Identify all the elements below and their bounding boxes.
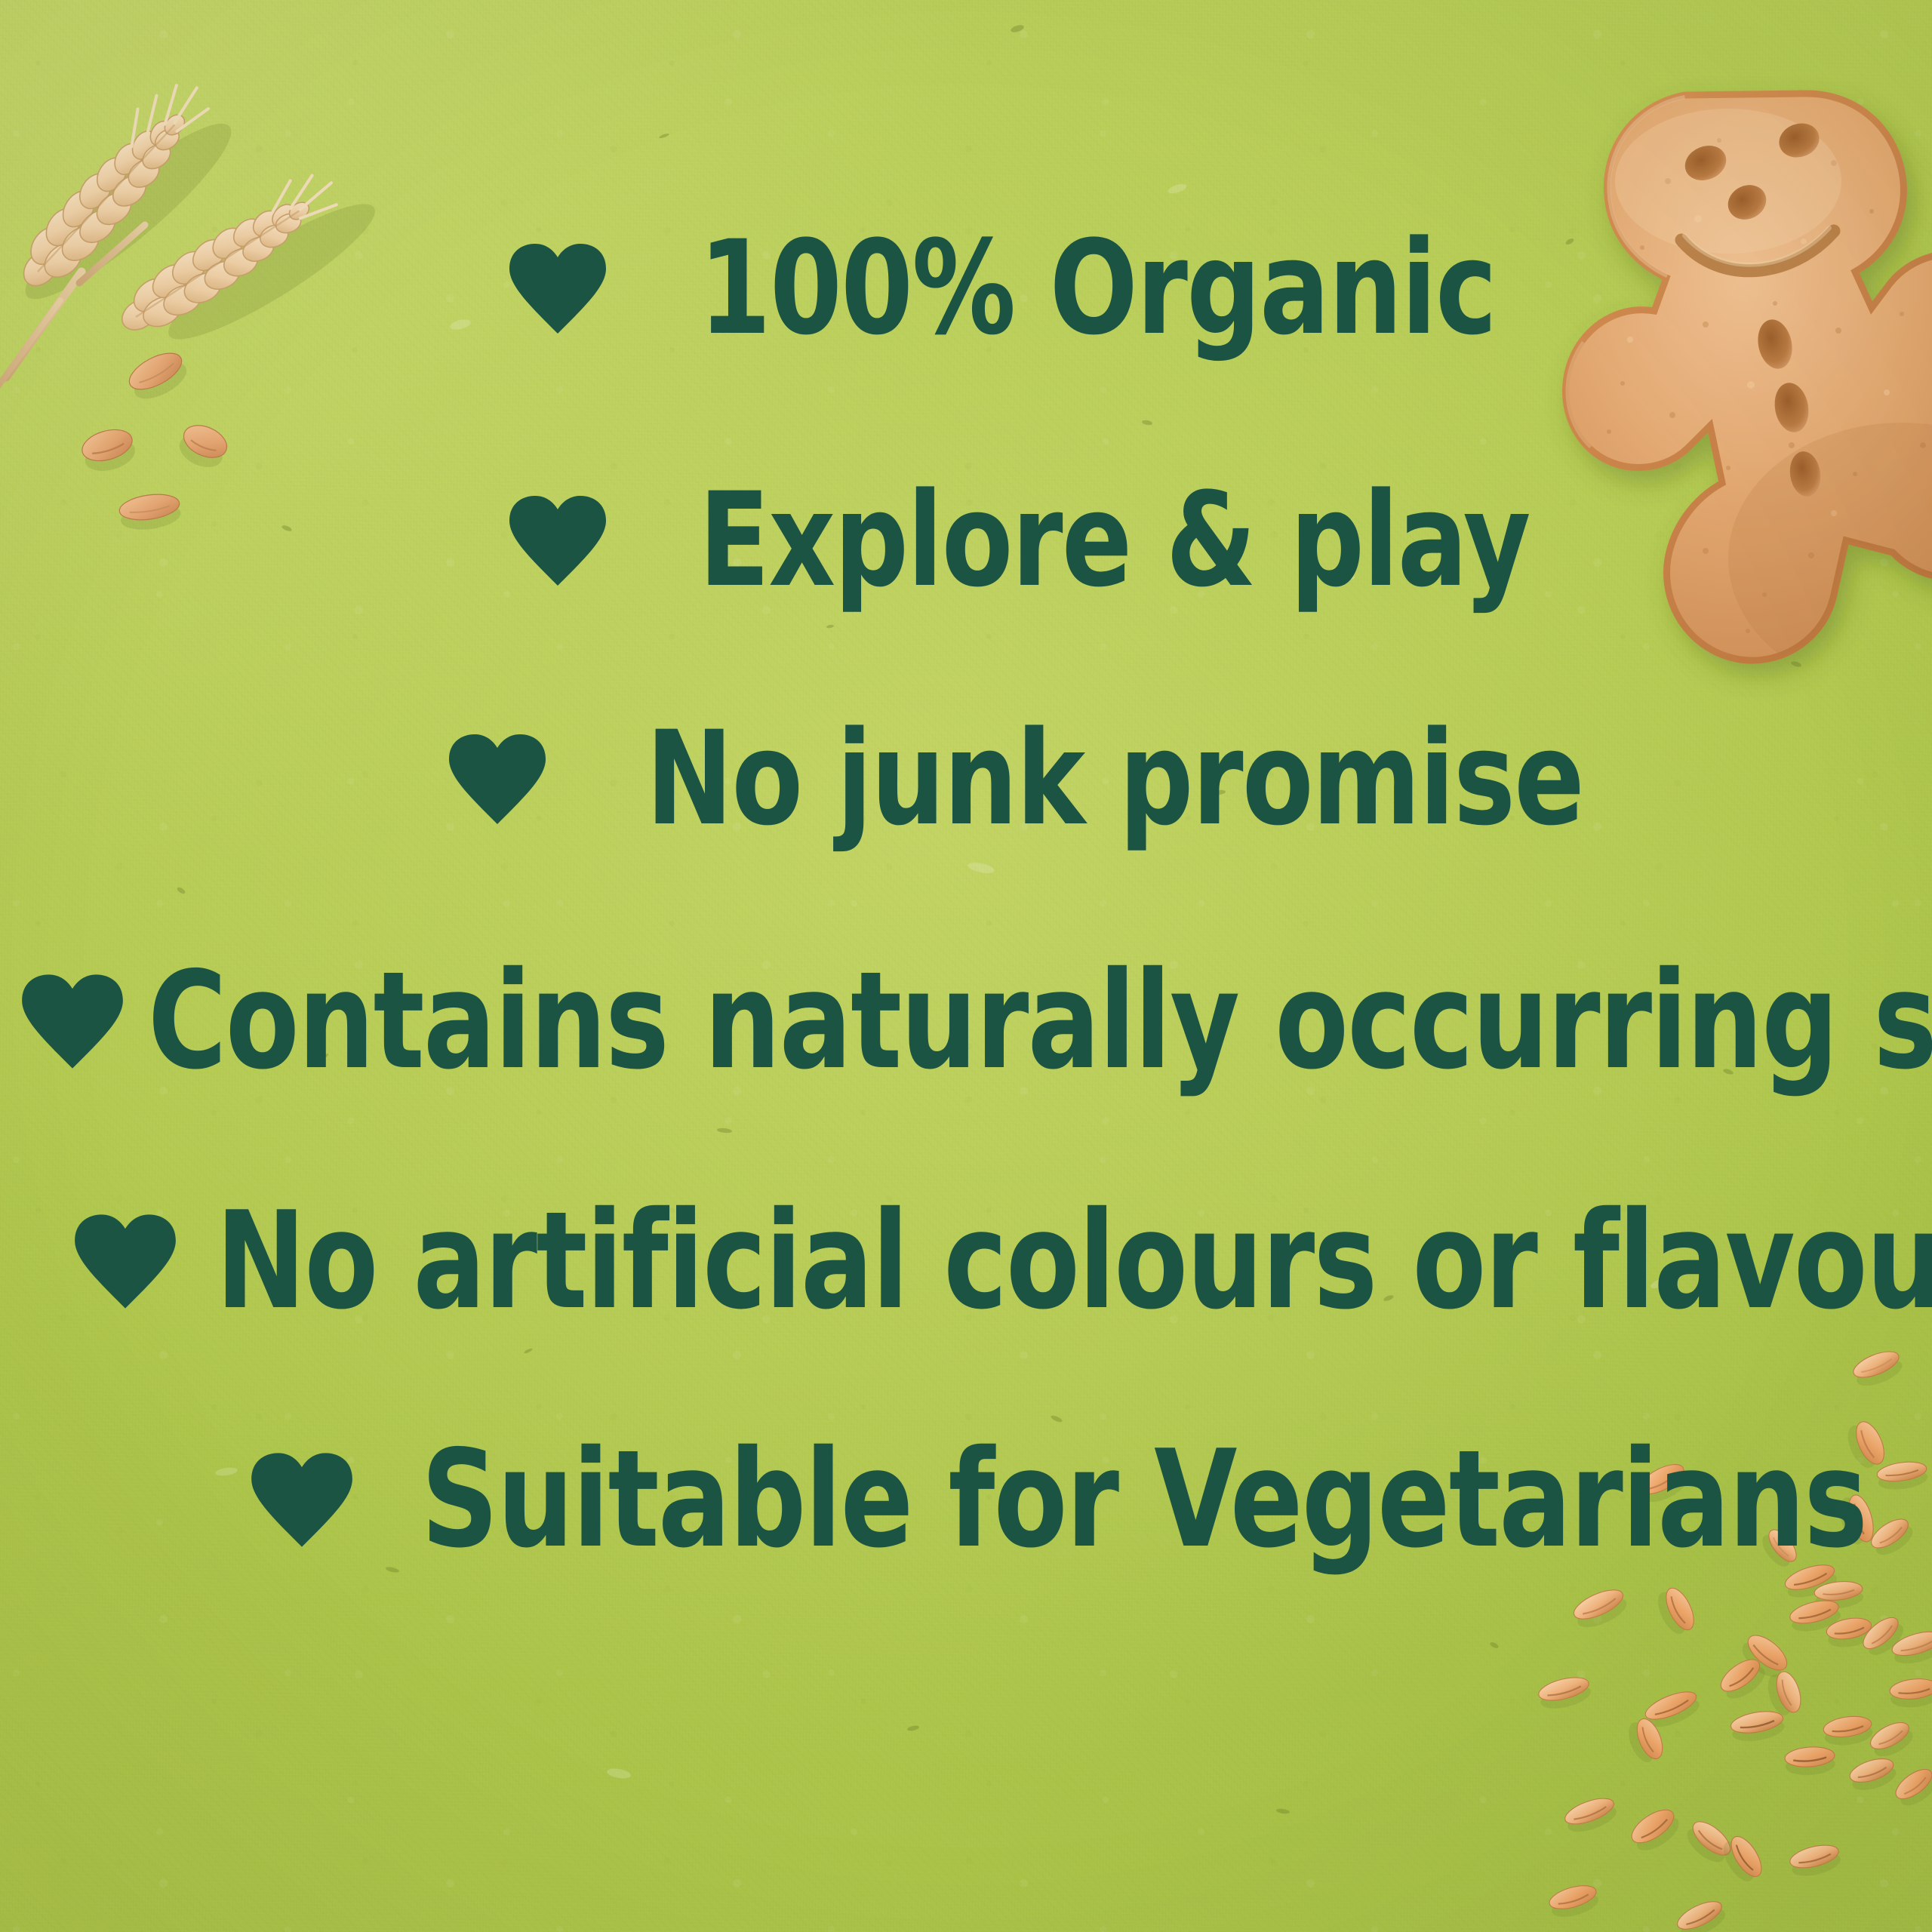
heart-icon [20,973,125,1069]
list-item-label: 100% Organic [699,226,1496,349]
list-item: Contains naturally occurring sugars [20,957,1932,1084]
list-item-label: No artificial colours or flavours [216,1197,1932,1324]
heart-icon [507,242,608,334]
product-benefits-panel: 100% Organic Explore & play No junk prom… [0,0,1932,1932]
heart-icon [507,494,608,586]
list-item: No artificial colours or flavours [72,1197,1932,1324]
heart-icon [72,1213,178,1309]
list-item: Explore & play [507,478,1737,601]
list-item-label: No junk promise [646,717,1583,840]
list-item: 100% Organic [507,226,1695,349]
list-item-label: Suitable for Vegetarians [421,1435,1866,1563]
heart-icon [249,1451,355,1548]
list-item: No junk promise [447,717,1817,840]
list-item-label: Contains naturally occurring sugars [148,957,1932,1084]
list-item: Suitable for Vegetarians [249,1435,1932,1563]
heart-icon [447,733,548,825]
benefit-list: 100% Organic Explore & play No junk prom… [0,0,1932,1932]
list-item-label: Explore & play [699,478,1530,601]
